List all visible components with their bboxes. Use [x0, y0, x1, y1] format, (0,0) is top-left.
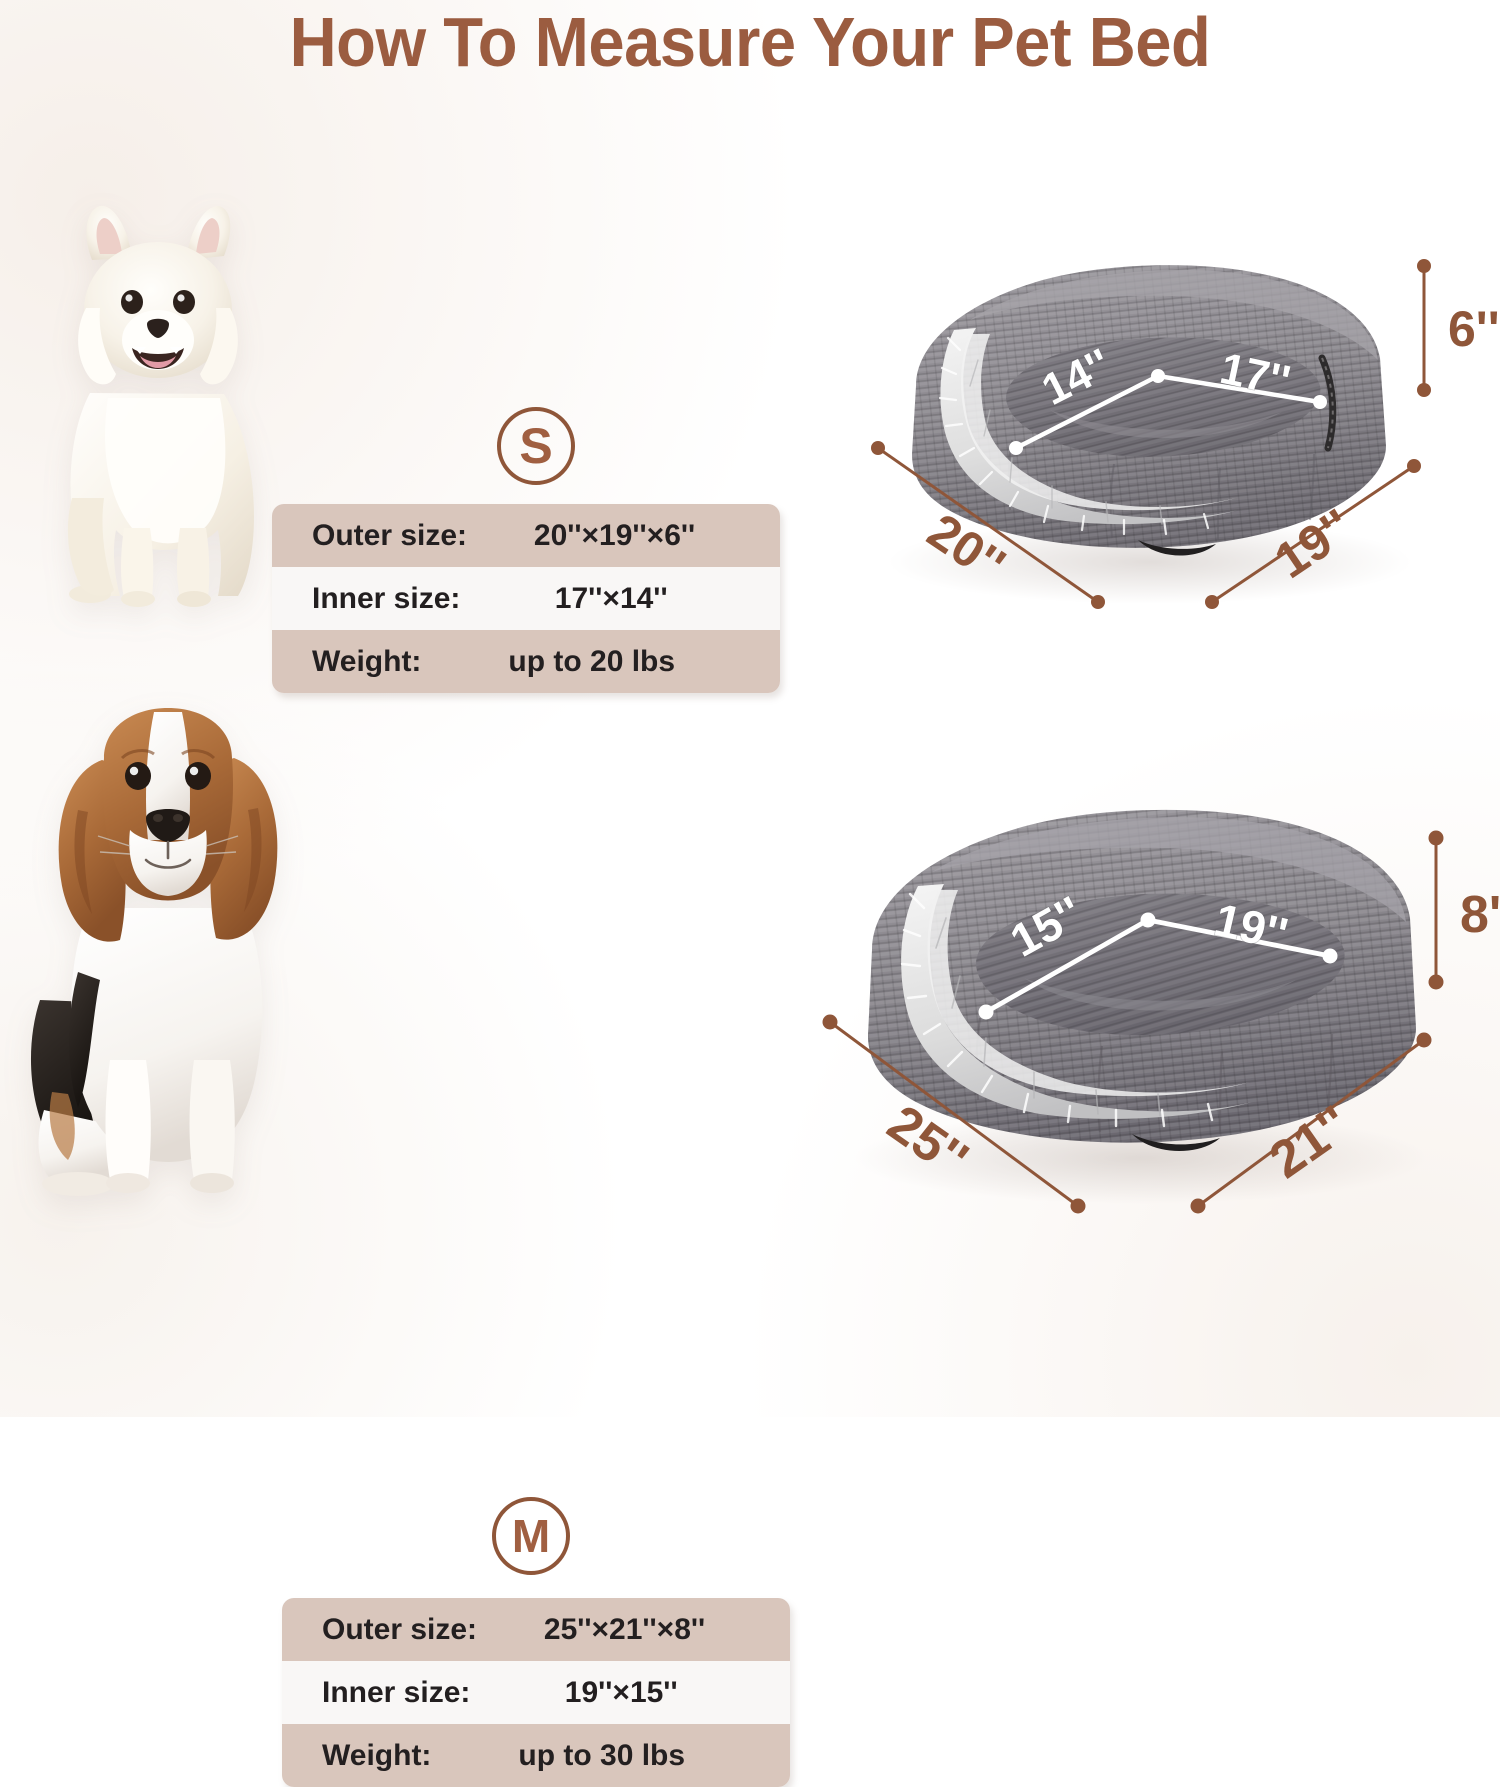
spec-row-inner-size: Inner size: 19''×15''	[282, 1661, 790, 1724]
spec-row-outer-size: Outer size: 25''×21''×8''	[282, 1598, 790, 1661]
spec-label: Outer size:	[322, 1613, 477, 1647]
spec-value: 20''×19''×6''	[467, 519, 780, 553]
size-badge-small: S	[497, 407, 575, 485]
pet-bed-medium-photo: 15'' 19'' 25'' 21'' 8''	[800, 760, 1500, 1240]
spec-row-weight: Weight: up to 30 lbs	[282, 1724, 790, 1787]
outer-dim-height-label: 6''	[1448, 301, 1500, 357]
beagle-photo	[18, 700, 318, 1200]
spec-row-outer-size: Outer size: 20''×19''×6''	[272, 504, 780, 567]
size-badge-medium: M	[492, 1497, 570, 1575]
size-section-medium: M Outer size: 25''×21''×8'' Inner size: …	[0, 690, 1500, 1250]
spec-table-small: Outer size: 20''×19''×6'' Inner size: 17…	[272, 504, 780, 693]
spec-value: up to 20 lbs	[421, 645, 780, 679]
page-title: How To Measure Your Pet Bed	[53, 2, 1448, 82]
spec-label: Outer size:	[312, 519, 467, 553]
spec-value: 25''×21''×8''	[477, 1613, 790, 1647]
spec-label: Inner size:	[322, 1676, 470, 1710]
spec-table-medium: Outer size: 25''×21''×8'' Inner size: 19…	[282, 1598, 790, 1787]
size-section-small: S Outer size: 20''×19''×6'' Inner size: …	[0, 170, 1500, 670]
spec-value: up to 30 lbs	[431, 1739, 790, 1773]
spec-value: 17''×14''	[460, 582, 780, 616]
spec-value: 19''×15''	[470, 1676, 790, 1710]
spec-label: Weight:	[312, 645, 421, 679]
outer-dim-height-label: 8''	[1460, 886, 1500, 944]
pet-bed-small-photo: 14'' 17'' 20'' 19'' 6''	[820, 210, 1500, 630]
spec-label: Inner size:	[312, 582, 460, 616]
spec-row-inner-size: Inner size: 17''×14''	[272, 567, 780, 630]
spec-label: Weight:	[322, 1739, 431, 1773]
spec-row-weight: Weight: up to 20 lbs	[272, 630, 780, 693]
white-chihuahua-photo	[28, 198, 293, 608]
